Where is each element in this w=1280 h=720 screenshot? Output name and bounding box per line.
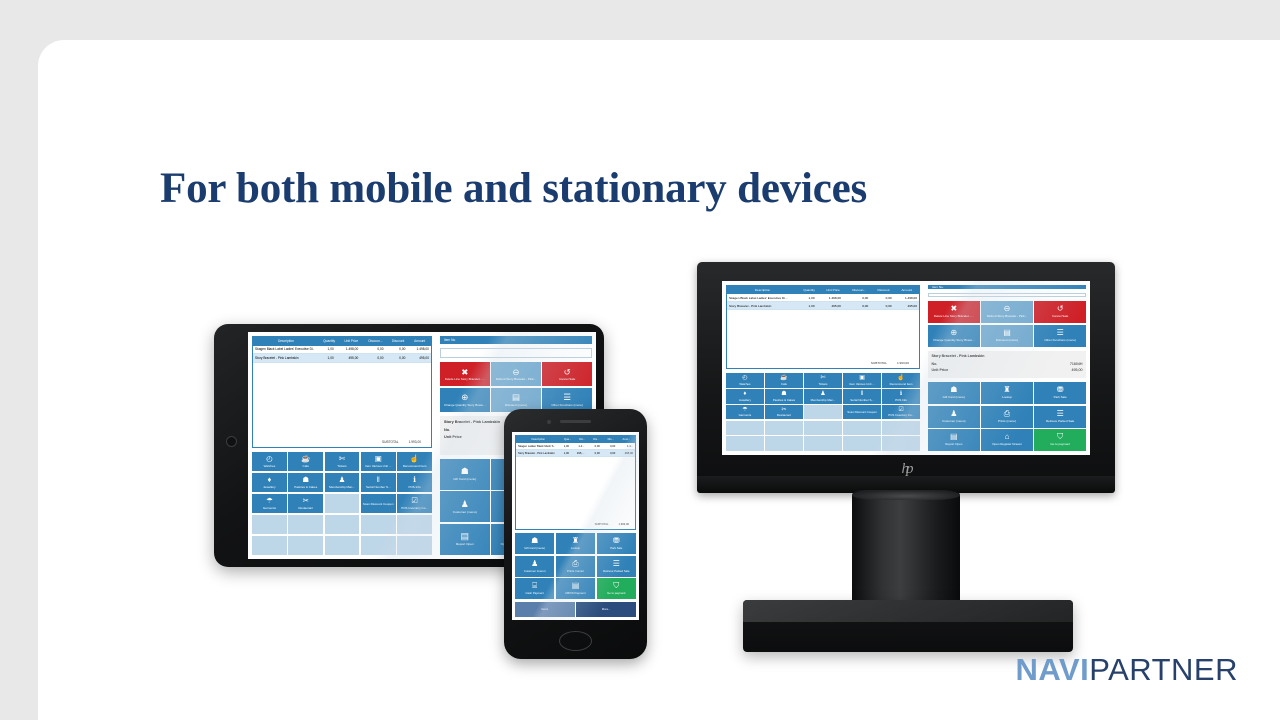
tile-label: Retrieve Parked Sale: [602, 570, 630, 573]
receipt-table: DescriptionQuantityUnit PriceDiscoun...D…: [252, 336, 432, 448]
tile-label: Restaurant: [297, 507, 314, 510]
monitor-screen[interactable]: DescriptionQuantityUnit PriceDiscoun...D…: [722, 281, 1090, 455]
subtotal-value: 1.993,00: [409, 440, 421, 444]
subtotal-value: 1.993,00: [619, 523, 629, 526]
detail-label: No.: [444, 428, 450, 432]
tile-label: Jewellery: [262, 486, 277, 489]
box-icon: ▣: [375, 455, 382, 463]
category-tile[interactable]: Scan Discount Coupon: [361, 494, 396, 514]
pos-left-panel: DescriptionQuantityUnit PriceDiscoun...D…: [722, 281, 924, 455]
category-tile[interactable]: ‖Serial Number S...: [843, 389, 881, 404]
tile-label: POS Inventory Co...: [887, 414, 915, 417]
tile-label: Cancel Sale: [558, 378, 576, 381]
park-icon: ⛃: [613, 537, 620, 545]
tile-label: Scan Discount Coupon: [362, 503, 395, 506]
park-icon: ⛃: [1057, 386, 1064, 394]
tile-label: Change Quantity Story Brace...: [932, 339, 976, 342]
column-header: Qua...: [560, 438, 574, 441]
column-header: Amount: [895, 288, 919, 292]
receipt-table-header: DescriptionQuantityUnit PriceDiscoun...D…: [253, 337, 431, 346]
empty-tile: [397, 515, 432, 535]
table-cell: 0,00: [843, 304, 870, 308]
tile-label: Other Functions (menu): [550, 404, 584, 407]
close-icon: ✖: [461, 368, 468, 377]
cake-icon: ☗: [302, 476, 309, 484]
tile-label: Change Quantity Story Brace...: [443, 404, 487, 407]
table-cell: 1,00: [793, 304, 816, 308]
grid-icon: ☰: [563, 393, 571, 402]
table-row[interactable]: Skagen Ladies' Black Mesh S...1,001.4...…: [516, 443, 635, 450]
table-cell: 495,...: [571, 452, 586, 455]
table-cell: 1,00: [314, 347, 336, 351]
retrieve-icon: ☰: [1057, 410, 1064, 418]
category-tile[interactable]: ☕Cafe: [765, 373, 803, 388]
function-tile[interactable]: ♜Lookup: [981, 382, 1033, 404]
tile-label: Tickets: [336, 465, 347, 468]
tile-label: Pastries & Cakes: [772, 399, 796, 402]
category-tile[interactable]: ℹPOS Info: [882, 389, 920, 404]
monitor-stand-base: [743, 600, 1073, 652]
detail-label: No.: [932, 362, 938, 366]
table-cell: 0,00: [870, 304, 893, 308]
action-tile[interactable]: ☰Other Functions (menu): [1034, 325, 1086, 347]
phone-pos-left: DescriptionQua...Uni...Dis...Dis...Amo..…: [512, 432, 639, 620]
empty-tile: [843, 421, 881, 436]
tile-label: Park Sale: [609, 547, 623, 550]
table-cell: 1.4...: [617, 445, 635, 448]
function-tile[interactable]: ⛃Park Sale: [597, 533, 636, 554]
item-search-label: Item No.: [928, 285, 1086, 289]
ticket-icon: ✄: [820, 375, 825, 381]
action-tile-grid: ✖Delete Line Story Bracelet - ...⊖Refund…: [928, 301, 1086, 347]
cutlery-icon: ✂: [781, 407, 786, 413]
page-title: For both mobile and stationary devices: [160, 164, 867, 213]
tile-label: Customer (menu): [452, 511, 478, 514]
tile-label: Discount (menu): [504, 404, 528, 407]
tile-label: Discount (menu): [995, 339, 1019, 342]
category-tile[interactable]: ✂Restaurant: [765, 405, 803, 420]
receipt-table-header: DescriptionQuantityUnit PriceDiscoun...D…: [727, 286, 919, 294]
table-cell: 1.498,00: [336, 347, 360, 351]
receipt-subtotal: SUBTOTAL1.993,00: [727, 359, 919, 368]
empty-tile: [765, 421, 803, 436]
table-cell: 0,00: [360, 347, 385, 351]
table-cell: 0,00: [586, 445, 601, 448]
function-tile[interactable]: ⎙Prints (menu): [556, 556, 595, 577]
category-tile-grid: ◴Watches☕Cafe✄Tickets▣Item Various Unit …: [252, 452, 432, 555]
grid-icon: ☰: [1057, 329, 1064, 337]
table-cell: 0,00: [602, 452, 617, 455]
gift-icon: ☗: [950, 386, 957, 394]
plus-circle-icon: ⊕: [461, 393, 468, 402]
column-header: Unit Price: [820, 288, 846, 292]
function-tile[interactable]: ▤MPOS Payment: [556, 578, 595, 599]
table-cell: 1,00: [555, 452, 570, 455]
receipt-table: DescriptionQua...Uni...Dis...Dis...Amo..…: [515, 435, 636, 530]
column-header: Description: [516, 438, 560, 441]
category-tile-grid: ◴Watches☕Cafe✄Tickets▣Item Various Unit …: [726, 373, 920, 451]
cash-icon: ⌸: [532, 582, 537, 590]
receipt-empty-area: [516, 457, 635, 521]
clipboard-icon: ☑: [411, 497, 418, 505]
function-tile[interactable]: ☗Gift Card (menu): [928, 382, 980, 404]
category-tile[interactable]: Scan Discount Coupon: [843, 405, 881, 420]
table-cell: 495,00: [617, 452, 635, 455]
category-tile[interactable]: ☑POS Inventory Co...: [882, 405, 920, 420]
empty-tile: [804, 405, 842, 420]
nav-more-label: More...: [602, 608, 611, 611]
monitor-bezel: DescriptionQuantityUnit PriceDiscoun...D…: [697, 262, 1115, 493]
tile-label: MPOS Payment: [564, 592, 586, 595]
category-tile[interactable]: ☗Pastries & Cakes: [288, 473, 323, 493]
category-tile[interactable]: ◴Watches: [726, 373, 764, 388]
subtotal-label: SUBTOTAL: [871, 361, 887, 365]
tile-label: Refund Story Bracelet - Pink...: [495, 378, 537, 381]
card-icon: ▤: [572, 582, 580, 590]
logo-navi-text: NAVI: [1015, 652, 1089, 688]
table-cell: Story Bracelet - Pink Lambskin: [727, 304, 793, 308]
user-icon: ♟: [950, 410, 957, 418]
diamond-icon: ♦: [268, 476, 272, 484]
empty-tile: [726, 436, 764, 451]
function-tile[interactable]: ⛉Go to payment: [1034, 429, 1086, 451]
action-tile[interactable]: ⊕Change Quantity Story Brace...: [440, 388, 490, 412]
tile-label: Park Sale: [1053, 396, 1068, 399]
tile-label: Scan Discount Coupon: [846, 411, 878, 414]
category-tile[interactable]: ✄Tickets: [804, 373, 842, 388]
clipboard-icon: ☑: [898, 407, 903, 413]
category-tile[interactable]: ♦Jewellery: [726, 389, 764, 404]
column-header: Discoun...: [363, 339, 388, 343]
action-tile[interactable]: ✖Delete Line Story Bracelet - ...: [928, 301, 980, 323]
function-tile[interactable]: ♟Customer (menu): [515, 556, 554, 577]
tile-label: Tickets: [817, 383, 828, 386]
diamond-icon: ♦: [743, 391, 746, 397]
function-tile[interactable]: ⛉Go to payment: [597, 578, 636, 599]
column-header: Amount: [408, 339, 431, 343]
tile-label: Membership Man...: [328, 486, 356, 489]
empty-tile: [397, 536, 432, 556]
binoculars-icon: ♜: [1003, 386, 1010, 394]
empty-tile: [361, 515, 396, 535]
tile-label: Customer (menu): [523, 570, 547, 573]
function-tile-grid: ☗Gift Card (menu)♜Lookup⛃Park Sale♟Custo…: [515, 533, 636, 599]
category-tile[interactable]: ▣Item Various Unit ...: [361, 452, 396, 472]
minus-circle-icon: ⊖: [1004, 305, 1011, 313]
logo-partner-text: PARTNER: [1089, 652, 1238, 688]
stationary-pos-monitor: DescriptionQuantityUnit PriceDiscoun...D…: [697, 262, 1115, 652]
function-tile[interactable]: ⌂Open Register Drawer: [981, 429, 1033, 451]
phone-screen[interactable]: DescriptionQua...Uni...Dis...Dis...Amo..…: [512, 432, 639, 620]
empty-tile: [804, 436, 842, 451]
tile-label: Prints (menu): [566, 570, 585, 573]
tile-label: Jewellery: [738, 399, 752, 402]
tablet-home-button-icon[interactable]: [226, 436, 237, 447]
table-cell: Skagen Black Label Ladies' Executive Di.…: [727, 296, 793, 300]
detail-no-row: No.71604H: [932, 362, 1083, 366]
printer-icon: ⎙: [572, 560, 578, 568]
table-row[interactable]: Story Bracelet - Pink Lambskin1,00495,..…: [516, 450, 635, 457]
column-header: Discount: [872, 288, 894, 292]
action-tile[interactable]: ↺Cancel Sale: [542, 362, 592, 386]
shirt-icon: ☂: [742, 407, 747, 413]
function-tile[interactable]: ⛃Park Sale: [1034, 382, 1086, 404]
item-detail-pane: Story Bracelet - Pink LambskinNo.71604HU…: [928, 351, 1086, 379]
tile-label: Go to payment: [606, 592, 626, 595]
receipt-table-header: DescriptionQua...Uni...Dis...Dis...Amo..…: [516, 436, 635, 443]
drawer-icon: ⌂: [1005, 433, 1010, 441]
monitor-stand-neck: [852, 490, 960, 610]
table-cell: 1.4...: [571, 445, 586, 448]
tile-label: Recommend Item: [889, 383, 914, 386]
empty-tile: [252, 536, 287, 556]
table-cell: Story Bracelet - Pink Lambskin: [253, 356, 314, 360]
table-cell: Story Bracelet - Pink Lambskin: [516, 452, 555, 455]
detail-price-row: Unit Price495,00: [932, 368, 1083, 372]
action-tile[interactable]: ⊖Refund Story Bracelet - Pink...: [981, 301, 1033, 323]
table-cell: 1.498,00: [894, 296, 919, 300]
tile-label: Gift Card (menu): [523, 547, 546, 550]
function-tile[interactable]: ☗Gift Card (menu): [515, 533, 554, 554]
binoculars-icon: ♜: [572, 537, 579, 545]
tile-label: Customer (menu): [941, 420, 966, 423]
column-header: Uni...: [575, 438, 589, 441]
box-icon: ▣: [859, 375, 865, 381]
tile-label: Restaurant: [776, 414, 792, 417]
column-header: Dis...: [589, 438, 603, 441]
function-tile-grid: ☗Gift Card (menu)♜Lookup⛃Park Sale♟Custo…: [928, 382, 1086, 451]
empty-tile: [288, 536, 323, 556]
tile-label: Cafe: [780, 383, 788, 386]
retrieve-icon: ☰: [613, 560, 620, 568]
action-tile[interactable]: ▤Discount (menu): [981, 325, 1033, 347]
phone-home-button-icon[interactable]: [559, 631, 592, 651]
action-tile[interactable]: ⊕Change Quantity Story Brace...: [928, 325, 980, 347]
table-cell: 0,00: [843, 296, 870, 300]
phone-bottom-nav: ItemsMore...: [515, 602, 636, 617]
category-tile[interactable]: ◴Watches: [252, 452, 287, 472]
receipt-subtotal: SUBTOTAL1.993,00: [253, 438, 431, 447]
cutlery-icon: ✂: [303, 497, 309, 505]
clock-icon: ◴: [742, 375, 747, 381]
tile-label: Garments: [262, 507, 277, 510]
receipt-subtotal: SUBTOTAL1.993,00: [516, 521, 635, 529]
nav-more-button[interactable]: More...: [576, 602, 636, 617]
category-tile[interactable]: ‖Serial Number S...: [361, 473, 396, 493]
thumb-up-icon: ☝: [410, 455, 419, 463]
table-cell: 495,00: [336, 356, 360, 360]
category-tile[interactable]: ℹPOS Info: [397, 473, 432, 493]
column-header: Quantity: [798, 288, 820, 292]
empty-tile: [325, 536, 360, 556]
empty-tile: [288, 515, 323, 535]
column-header: Amo...: [618, 438, 635, 441]
gift-icon: ☗: [531, 537, 538, 545]
user-icon: ♟: [461, 500, 469, 509]
navipartner-logo: NAVIPARTNER: [1015, 652, 1238, 688]
tile-label: Report Open: [944, 443, 963, 446]
table-cell: 0,00: [386, 347, 408, 351]
shirt-icon: ☂: [266, 497, 273, 505]
cake-icon: ☗: [781, 391, 786, 397]
table-row[interactable]: Story Bracelet - Pink Lambskin1,00495,00…: [727, 302, 919, 310]
category-tile[interactable]: ☕Cafe: [288, 452, 323, 472]
pos-right-panel: Item No.✖Delete Line Story Bracelet - ..…: [924, 281, 1090, 455]
phone-device: DescriptionQua...Uni...Dis...Dis...Amo..…: [504, 409, 647, 659]
function-tile[interactable]: ⎙Prints (menu): [981, 406, 1033, 428]
function-tile[interactable]: ♟Customer (menu): [440, 491, 490, 522]
empty-tile: [765, 436, 803, 451]
table-row[interactable]: Skagen Black Label Ladies' Executive Di.…: [727, 294, 919, 302]
nav-items-button[interactable]: Items: [515, 602, 575, 617]
action-tile[interactable]: ✖Delete Line Story Bracelet - ...: [440, 362, 490, 386]
table-cell: 1.498,00: [407, 347, 431, 351]
ticket-icon: ✄: [339, 455, 345, 463]
detail-value: 71604H: [1070, 362, 1083, 366]
tile-label: Refund Story Bracelet - Pink...: [986, 315, 1028, 318]
clock-icon: ◴: [266, 455, 273, 463]
detail-item-title: Story Bracelet - Pink Lambskin: [932, 354, 1083, 358]
tile-label: Watches: [738, 383, 751, 386]
barcode-icon: ‖: [377, 476, 380, 484]
function-tile[interactable]: ⌸Cash Payment: [515, 578, 554, 599]
nav-items-label: Items: [541, 608, 548, 611]
table-row[interactable]: Story Bracelet - Pink Lambskin1,00495,00…: [253, 354, 431, 363]
table-cell: Skagen Black Label Ladies' Executive Di.…: [253, 347, 314, 351]
category-tile[interactable]: ☑POS Inventory Co...: [397, 494, 432, 514]
empty-tile: [882, 436, 920, 451]
table-cell: 495,00: [817, 304, 843, 308]
function-tile[interactable]: ☗Gift Card (menu): [440, 459, 490, 490]
function-tile[interactable]: ☰Retrieve Parked Sale: [1034, 406, 1086, 428]
user-icon: ♟: [531, 560, 538, 568]
empty-tile: [252, 515, 287, 535]
search-input[interactable]: [928, 293, 1086, 297]
table-row[interactable]: Skagen Black Label Ladies' Executive Di.…: [253, 346, 431, 355]
table-cell: 495,00: [894, 304, 919, 308]
tile-label: Delete Line Story Bracelet - ...: [444, 378, 486, 381]
function-tile[interactable]: ♟Customer (menu): [928, 406, 980, 428]
plus-circle-icon: ⊕: [950, 329, 957, 337]
category-tile[interactable]: ☝Recommend Item: [397, 452, 432, 472]
tag-icon: ▤: [1003, 329, 1011, 337]
receipt-empty-area: [253, 363, 431, 438]
column-header: Unit Price: [339, 339, 363, 343]
slide-card: For both mobile and stationary devices D…: [38, 40, 1280, 720]
table-cell: 1,00: [793, 296, 816, 300]
action-tile[interactable]: ↺Cancel Sale: [1034, 301, 1086, 323]
report-icon: ▤: [461, 532, 470, 541]
cart-icon: ⛉: [613, 582, 619, 590]
tile-label: Cash Payment: [525, 592, 545, 595]
table-cell: 0,00: [360, 356, 385, 360]
tile-label: Prints (menu): [997, 420, 1017, 423]
category-tile[interactable]: ☂Garments: [726, 405, 764, 420]
receipt-table: DescriptionQuantityUnit PriceDiscoun...D…: [726, 285, 920, 369]
detail-label: Unit Price: [932, 368, 949, 372]
function-tile[interactable]: ♜Lookup: [556, 533, 595, 554]
column-header: Dis...: [603, 438, 617, 441]
empty-tile: [882, 421, 920, 436]
item-search-label: Item No.: [440, 336, 592, 344]
function-tile[interactable]: ▤Report Open: [440, 524, 490, 555]
action-tile-grid: ✖Delete Line Story Bracelet - ...⊖Refund…: [440, 362, 592, 412]
tag-icon: ▤: [512, 393, 520, 402]
info-icon: ℹ: [900, 391, 902, 397]
tile-label: Open Register Drawer: [991, 443, 1023, 446]
table-cell: 0,00: [586, 452, 601, 455]
function-tile[interactable]: ▤Report Open: [928, 429, 980, 451]
tile-label: Recommend Item: [402, 465, 428, 468]
tile-label: Go to payment: [1049, 443, 1071, 446]
table-cell: 1.498,00: [817, 296, 843, 300]
category-tile[interactable]: ✂Restaurant: [288, 494, 323, 514]
barcode-icon: ‖: [861, 391, 863, 397]
column-header: Discount: [388, 339, 409, 343]
empty-tile: [325, 494, 360, 514]
coffee-icon: ☕: [780, 375, 787, 381]
tile-label: Watches: [263, 465, 277, 468]
tile-label: Lookup: [1001, 396, 1013, 399]
tile-label: Retrieve Parked Sale: [1045, 420, 1075, 423]
info-icon: ℹ: [413, 476, 416, 484]
function-tile[interactable]: ☰Retrieve Parked Sale: [597, 556, 636, 577]
column-header: Quantity: [319, 339, 340, 343]
minus-circle-icon: ⊖: [512, 368, 519, 377]
category-tile[interactable]: ☗Pastries & Cakes: [765, 389, 803, 404]
tile-label: Delete Line Story Bracelet - ...: [933, 315, 975, 318]
close-icon: ✖: [950, 305, 957, 313]
category-tile[interactable]: ☂Garments: [252, 494, 287, 514]
table-cell: 495,00: [407, 356, 431, 360]
empty-tile: [325, 515, 360, 535]
user-card-icon: ♟: [339, 476, 346, 484]
tile-label: Gift Card (menu): [452, 478, 477, 481]
tile-label: POS Info: [407, 486, 421, 489]
tile-label: POS Info: [894, 399, 908, 402]
category-tile[interactable]: ☝Recommend Item: [882, 373, 920, 388]
subtotal-value: 1.993,00: [897, 361, 909, 365]
tile-label: Serial Number S...: [365, 486, 392, 489]
table-cell: 1,00: [314, 356, 336, 360]
search-input[interactable]: [440, 348, 592, 358]
tile-label: Garments: [738, 414, 753, 417]
tile-label: Lookup: [570, 547, 581, 550]
printer-icon: ⎙: [1004, 410, 1010, 418]
tile-label: Other Functions (menu): [1043, 339, 1077, 342]
user-card-icon: ♟: [820, 391, 825, 397]
tile-label: POS Inventory Co...: [400, 507, 429, 510]
category-tile[interactable]: ▣Item Various Unit ...: [843, 373, 881, 388]
empty-tile: [726, 421, 764, 436]
cart-icon: ⛉: [1057, 433, 1063, 441]
category-tile[interactable]: ✄Tickets: [325, 452, 360, 472]
category-tile[interactable]: ♟Membership Man...: [804, 389, 842, 404]
tile-label: Gift Card (menu): [942, 396, 966, 399]
detail-label: Unit Price: [444, 435, 462, 439]
action-tile[interactable]: ⊖Refund Story Bracelet - Pink...: [491, 362, 541, 386]
column-header: Discoun...: [846, 288, 873, 292]
category-tile[interactable]: ♟Membership Man...: [325, 473, 360, 493]
table-cell: Skagen Ladies' Black Mesh S...: [516, 445, 555, 448]
category-tile[interactable]: ♦Jewellery: [252, 473, 287, 493]
empty-tile: [361, 536, 396, 556]
pos-left-panel: DescriptionQuantityUnit PriceDiscoun...D…: [248, 332, 436, 559]
tile-label: Serial Number S...: [849, 399, 875, 402]
tile-label: Item Various Unit ...: [364, 465, 392, 468]
empty-tile: [843, 436, 881, 451]
phone-camera-icon: [547, 420, 551, 424]
